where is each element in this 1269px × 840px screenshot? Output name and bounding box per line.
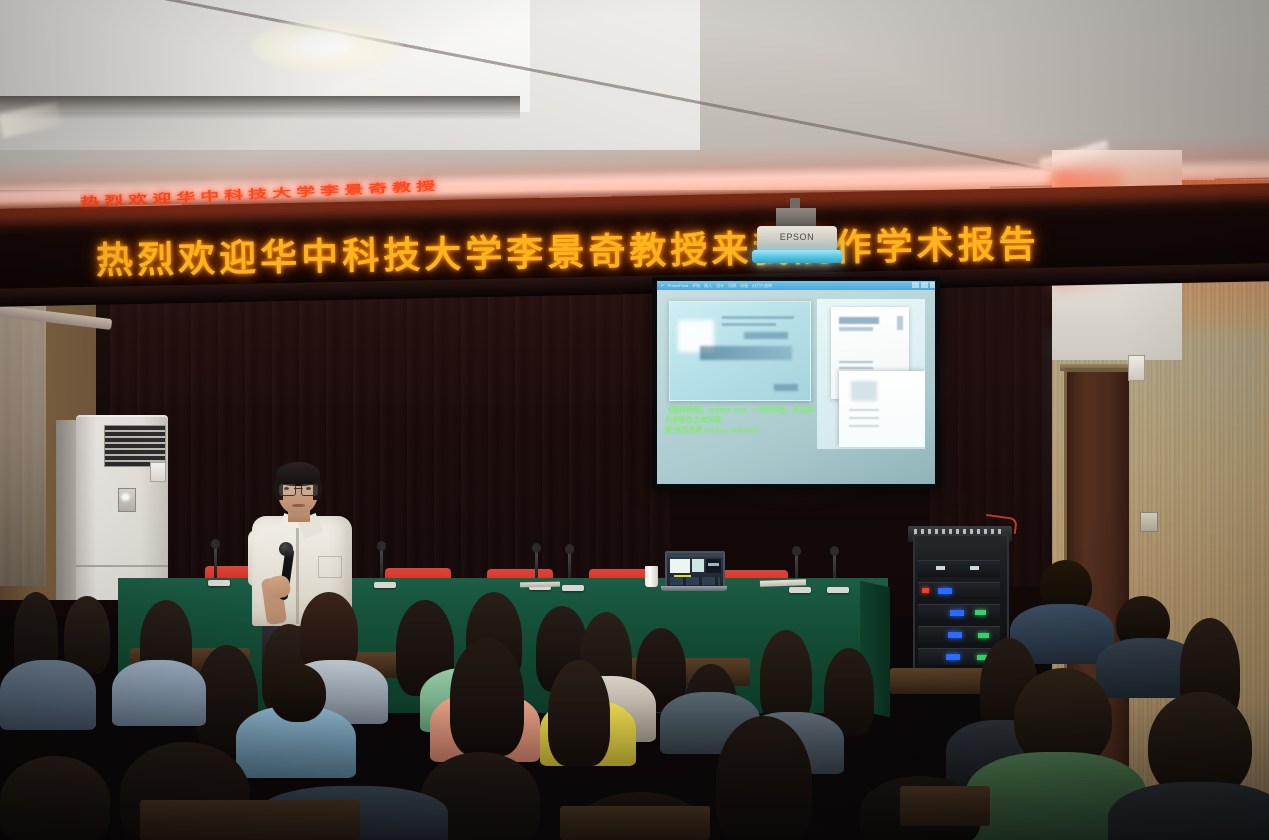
- gooseneck-microphone[interactable]: [214, 545, 217, 579]
- led-banner-upper-char: 中: [200, 190, 220, 203]
- led-banner-upper-char: 奇: [368, 182, 388, 195]
- slide-footer-block: [774, 384, 798, 391]
- rack-indicator-blue: [948, 632, 962, 638]
- led-banner-upper-char: 李: [320, 185, 340, 198]
- led-banner-char: 李: [506, 234, 544, 272]
- projector-mount-bracket: [776, 208, 816, 228]
- rack-indicator-blue: [938, 588, 952, 594]
- microphone-base: [374, 582, 396, 588]
- projection-screen: PPowerPoint开始插入设计切换动画幻灯片放映: [657, 281, 935, 484]
- led-banner-upper-char: 学: [296, 186, 316, 199]
- slide-subtitle-block: [744, 332, 788, 339]
- rack-unit[interactable]: [918, 560, 1000, 577]
- led-banner-char: 科: [342, 237, 380, 275]
- book-cover-front: [839, 371, 925, 447]
- laptop-slide-preview: [670, 559, 690, 573]
- stage-curtain: [110, 286, 670, 596]
- led-banner-char: 报: [957, 226, 995, 264]
- microphone-base: [789, 587, 811, 593]
- led-banner-char: 华: [260, 238, 298, 276]
- led-banner-upper-char: 景: [344, 183, 364, 196]
- book-corner-mark: [897, 316, 903, 330]
- powerpoint-menu-item[interactable]: PowerPoint: [668, 283, 688, 288]
- led-banner-char: 迎: [219, 239, 257, 277]
- led-banner-upper-char: 科: [224, 189, 244, 202]
- minimize-icon[interactable]: [912, 282, 919, 288]
- audience-head: [270, 664, 326, 722]
- seat-back-foreground[interactable]: [900, 786, 990, 826]
- powerpoint-menu-item[interactable]: P: [661, 283, 664, 288]
- speaker-shirt-placket: [296, 528, 299, 624]
- audience-head: [450, 638, 524, 756]
- maximize-icon[interactable]: [921, 282, 928, 288]
- ceiling-light-core: [300, 32, 352, 54]
- led-banner-upper-char: 技: [248, 188, 268, 201]
- slide-thumbnail-left: [669, 301, 811, 401]
- audience-head: [760, 630, 812, 724]
- wall-plate-upper[interactable]: [1128, 355, 1145, 381]
- ac-display-indicator-icon: [121, 493, 130, 501]
- microphone-base: [208, 580, 230, 586]
- projector-lens-icon: [752, 250, 842, 263]
- led-banner-char: 热: [96, 241, 134, 279]
- led-banner-char: 烈: [137, 240, 175, 278]
- projector-brand-label: EPSON: [757, 232, 837, 242]
- led-banner-upper-char: 大: [272, 187, 292, 200]
- ac-seam: [76, 565, 168, 567]
- laptop-presenter-notes: [706, 559, 721, 573]
- seat-back-foreground[interactable]: [140, 800, 360, 840]
- audience-head-foreground: [716, 716, 812, 840]
- led-banner-char: 技: [383, 236, 421, 274]
- led-banner-char: 授: [670, 231, 708, 269]
- eyeglasses-icon: [279, 484, 318, 494]
- slide-caption-english: (Anders Wijkman): [705, 428, 759, 434]
- paper-cup: [645, 566, 658, 587]
- powerpoint-window-controls[interactable]: [912, 282, 935, 288]
- audience-body: [112, 660, 206, 726]
- led-banner-upper-char: 迎: [152, 192, 172, 205]
- rack-indicator-green: [975, 610, 986, 615]
- speaker-mouth: [292, 504, 305, 507]
- rack-indicator-white: [970, 566, 979, 570]
- rack-indicator-blue: [950, 610, 964, 616]
- audience-head-foreground: [0, 756, 110, 840]
- audience-head: [548, 660, 610, 766]
- wall-socket-lower[interactable]: [1140, 512, 1158, 532]
- slide-caption: 《翻转极限》（come on）一书的作者、罗马俱乐部联合主席安德 斯·维杰克曼 …: [665, 405, 815, 436]
- slide-thumbnail-right: [817, 299, 925, 449]
- rack-indicator-green: [978, 633, 989, 638]
- laptop-next-slide: [692, 559, 704, 572]
- led-banner-char: 告: [998, 225, 1036, 263]
- led-banner-upper-char: 华: [176, 191, 196, 204]
- rack-indicator-red: [922, 588, 929, 593]
- led-banner-char: 学: [465, 235, 503, 273]
- rack-unit[interactable]: [918, 582, 1000, 599]
- audience-body-foreground: [1108, 782, 1269, 840]
- slide-caption-line2: 斯·维杰克曼 (Anders Wijkman): [665, 425, 815, 436]
- powerpoint-menu-item[interactable]: 幻灯片放映: [752, 283, 772, 289]
- book-title-block: [839, 317, 879, 324]
- ac-label: [150, 462, 166, 482]
- microphone-base: [562, 585, 584, 591]
- left-curtain: [0, 286, 46, 586]
- led-banner-char: 欢: [178, 240, 216, 278]
- seat-back-foreground[interactable]: [560, 806, 710, 840]
- led-banner-char: 奇: [588, 232, 626, 270]
- powerpoint-menu-item[interactable]: 动画: [740, 283, 748, 289]
- slide-text-line: [722, 323, 776, 326]
- book-front-graphic: [851, 381, 877, 401]
- slide-text-line: [722, 316, 794, 319]
- rack-indicator-white: [936, 566, 945, 570]
- laptop-keyboard-base[interactable]: [661, 586, 727, 591]
- book-subtitle-block: [839, 327, 873, 331]
- document-on-table: [520, 582, 560, 588]
- ac-vent-grill-icon: [104, 425, 166, 467]
- rack-indicator-blue: [946, 654, 960, 660]
- led-banner-char: 学: [875, 227, 913, 265]
- led-banner-upper-char: 授: [416, 180, 436, 193]
- lens-right: [301, 484, 318, 496]
- led-banner-char: 教: [629, 232, 667, 270]
- lecture-hall-photo: 热烈欢迎华中科技大学李景奇教授 热烈欢迎华中科技大学李景奇教授来我院作学术报告 …: [0, 0, 1269, 840]
- laptop-slide-strip: [670, 577, 720, 585]
- laptop-note-line: [708, 563, 719, 566]
- powerpoint-menu-bar: PPowerPoint开始插入设计切换动画幻灯片放映: [657, 281, 935, 290]
- lens-left: [279, 484, 296, 496]
- led-banner-char: 大: [424, 235, 462, 273]
- close-icon[interactable]: [930, 282, 935, 288]
- slide-caption-line1: 《翻转极限》（come on）一书的作者、罗马俱乐部联合主席安德: [665, 405, 815, 425]
- powerpoint-menu-item[interactable]: 开始: [692, 283, 700, 289]
- powerpoint-menu-item[interactable]: 切换: [728, 283, 736, 289]
- led-banner-char: 来: [711, 230, 749, 268]
- laptop-display[interactable]: [665, 551, 725, 591]
- speaker-shirt-pocket: [318, 556, 342, 578]
- book-front-text-lines: [849, 409, 879, 431]
- led-banner-char: 中: [301, 237, 339, 275]
- led-banner-upper-char: 烈: [104, 194, 124, 207]
- powerpoint-menu-item[interactable]: 插入: [704, 283, 712, 289]
- led-banner-upper-char: 教: [392, 181, 412, 194]
- audience-body: [0, 660, 96, 730]
- microphone-base: [827, 587, 849, 593]
- led-banner-char: 术: [916, 227, 954, 265]
- slide-title-block: [700, 346, 792, 360]
- led-banner-char: 景: [547, 233, 585, 271]
- gooseneck-microphone[interactable]: [380, 547, 383, 581]
- laptop-titlebar: [667, 553, 723, 557]
- led-banner-upper-char: 热: [80, 195, 100, 208]
- led-banner-upper-char: 欢: [128, 193, 148, 206]
- powerpoint-menu-item[interactable]: 设计: [716, 283, 724, 289]
